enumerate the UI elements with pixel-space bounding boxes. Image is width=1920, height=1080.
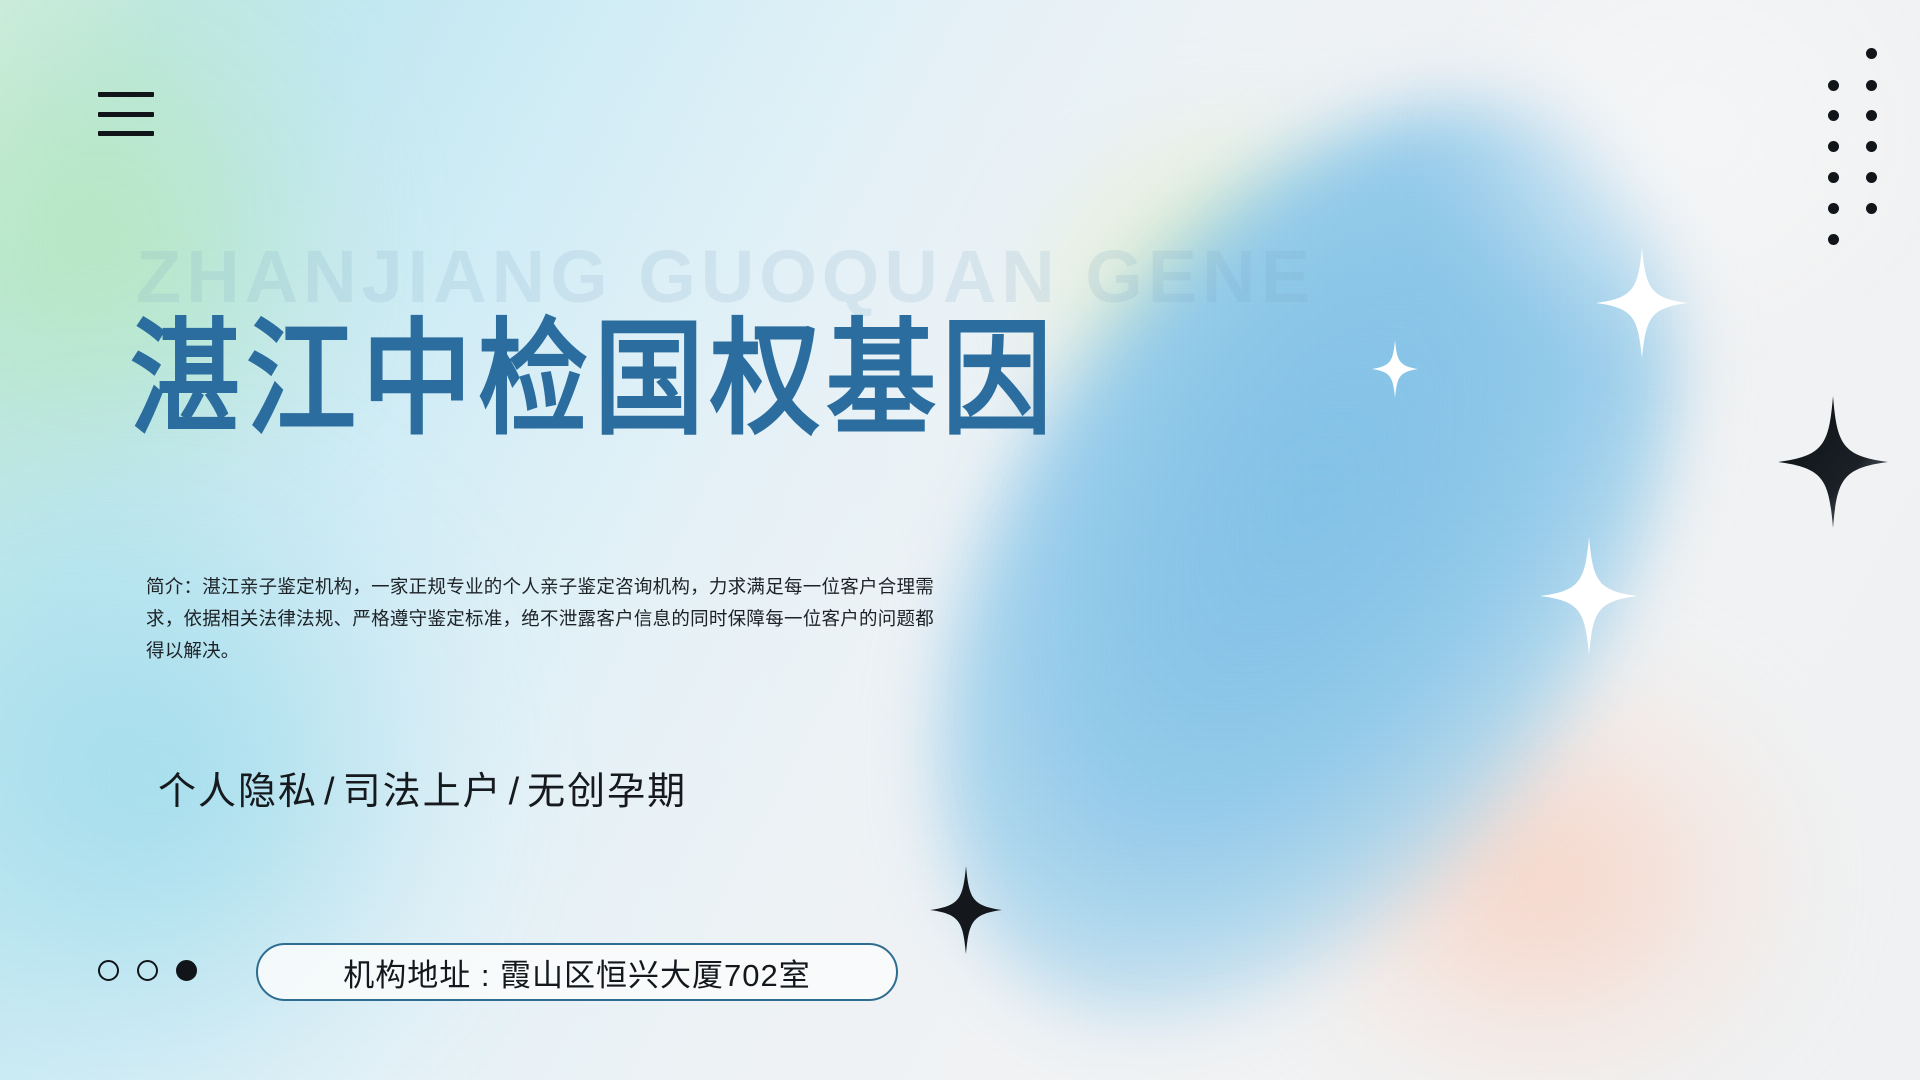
pagination-dot-2[interactable]: [137, 960, 158, 981]
pagination-dots[interactable]: [98, 960, 197, 981]
poster-canvas: ZHANJIANG GUOQUAN GENE 湛江中检国权基因 简介：湛江亲子鉴…: [0, 0, 1920, 1080]
dot-grid-icon: [1828, 48, 1892, 248]
service-tagline: 个人隐私/司法上户/无创孕期: [158, 760, 687, 815]
address-pill[interactable]: 机构地址 : 霞山区恒兴大厦702室: [256, 943, 898, 1001]
hamburger-bar-2: [98, 112, 154, 117]
hamburger-bar-1: [98, 92, 154, 97]
tagline-item-judicial: 司法上户: [343, 771, 503, 813]
tagline-separator-2: /: [503, 771, 528, 813]
tagline-separator-1: /: [318, 771, 343, 813]
hamburger-menu-icon[interactable]: [98, 92, 154, 136]
pagination-dot-1[interactable]: [98, 960, 119, 981]
page-title: 湛江中检国权基因: [130, 310, 1058, 450]
description-paragraph: 简介：湛江亲子鉴定机构，一家正规专业的个人亲子鉴定咨询机构，力求满足每一位客户合…: [146, 571, 934, 667]
pagination-dot-3[interactable]: [176, 960, 197, 981]
watermark-text: ZHANJIANG GUOQUAN GENE: [136, 240, 1315, 314]
address-label: 机构地址 : 霞山区恒兴大厦702室: [343, 950, 811, 995]
hamburger-bar-3: [98, 131, 154, 136]
tagline-item-privacy: 个人隐私: [158, 771, 318, 813]
tagline-item-prenatal: 无创孕期: [527, 771, 687, 813]
